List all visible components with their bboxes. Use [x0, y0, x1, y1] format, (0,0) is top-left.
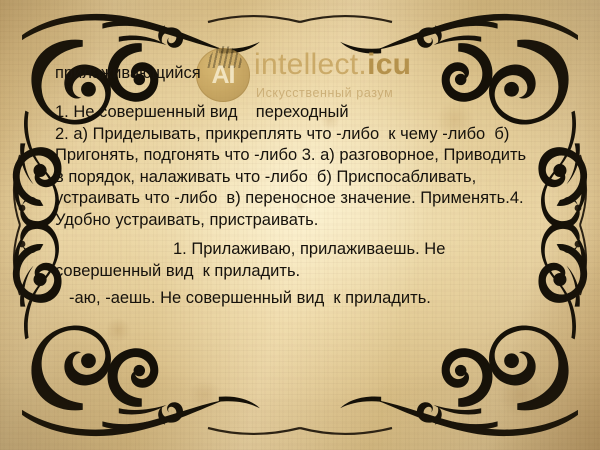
imperfective-block: -аю, -аешь. Не совершенный вид к прилади…: [69, 288, 533, 310]
conjugation-block: 1. Прилаживаю, прилаживаешь. Не совершен…: [55, 239, 533, 282]
sense-list: 1. Не совершенный вид переходный 2. а) П…: [55, 102, 533, 231]
edge-line-top: [300, 16, 392, 22]
entry-content: прилаживающийся 1. Не совершенный вид пе…: [55, 62, 533, 310]
edge-line-right: [580, 225, 586, 295]
edge-line-left: [14, 225, 20, 295]
headword: прилаживающийся: [55, 62, 533, 84]
conjugation-text: 1. Прилаживаю, прилаживаешь. Не совершен…: [55, 240, 450, 280]
edge-line-bottom: [300, 428, 392, 434]
dictionary-entry-card: AI intellect.icu Искусственный разум при…: [0, 0, 600, 450]
